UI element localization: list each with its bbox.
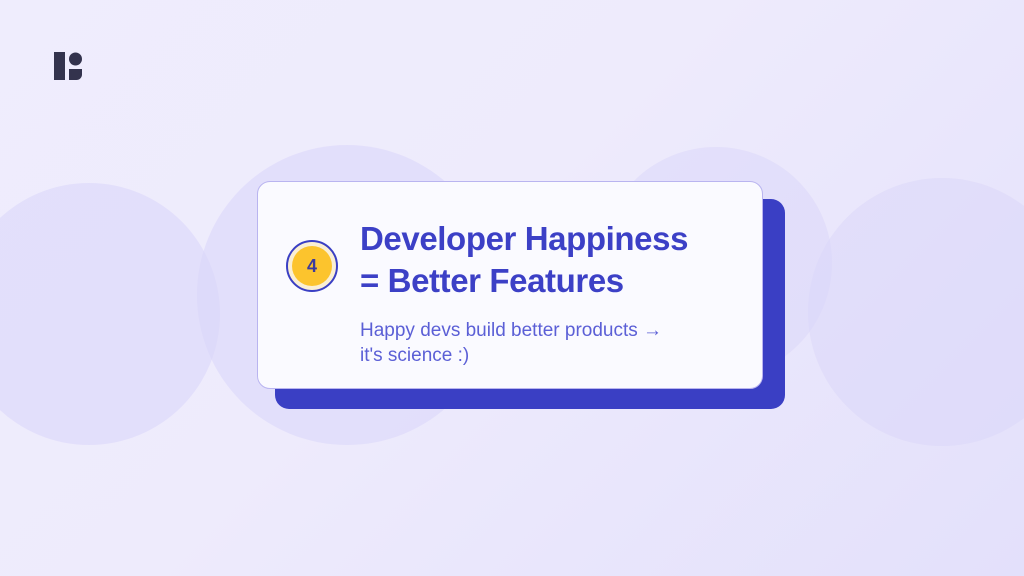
card-subtitle: Happy devs build better products → it's … [360,318,732,369]
slide-canvas: 4 Developer Happiness = Better Features … [0,0,1024,576]
unito-logo-icon [52,50,84,86]
decorative-circle-1 [0,183,220,445]
card-content: Developer Happiness = Better Features Ha… [360,212,732,369]
step-number-value: 4 [292,246,332,286]
card-surface[interactable]: 4 Developer Happiness = Better Features … [257,181,763,389]
decorative-circle-4 [808,178,1024,446]
highlight-card[interactable]: 4 Developer Happiness = Better Features … [257,181,763,389]
card-title: Developer Happiness = Better Features [360,218,732,301]
step-number-badge: 4 [286,240,338,292]
